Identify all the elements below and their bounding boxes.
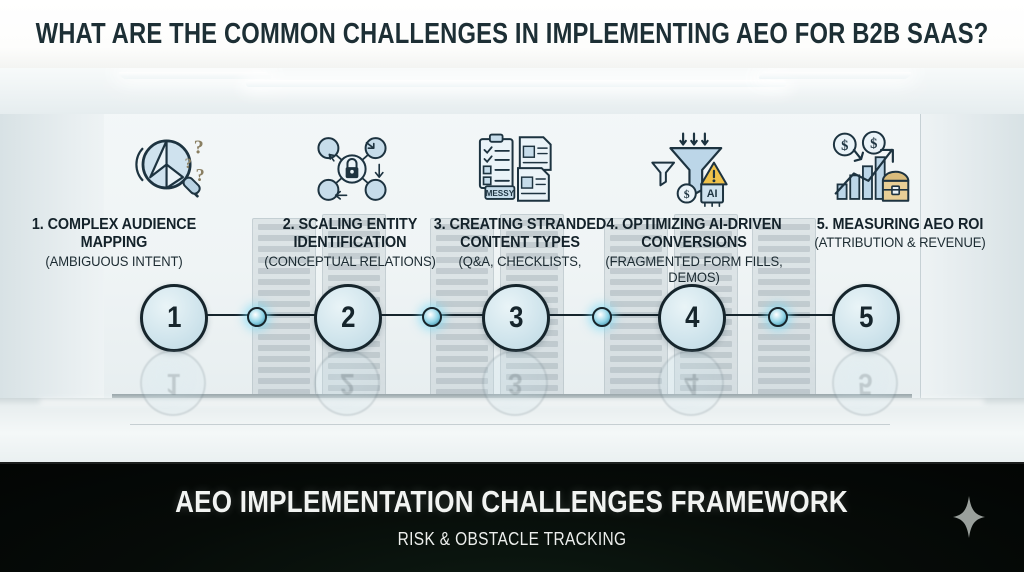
title-bar: What are the common challenges in implem… [0, 0, 1024, 68]
step-node-2[interactable]: 2 [314, 284, 382, 352]
step-number-reflection: 1 [166, 366, 180, 400]
sparkle-icon [952, 495, 986, 539]
step-number: 2 [341, 301, 355, 335]
infographic-stage: What are the common challenges in implem… [0, 0, 1024, 572]
step-node-5[interactable]: 5 [832, 284, 900, 352]
footer-title: AEO Implementation Challenges Framework [176, 484, 849, 520]
step-node-reflection: 1 [140, 350, 206, 416]
step-number: 3 [509, 301, 523, 335]
step-node-4[interactable]: 4 [658, 284, 726, 352]
timeline-dot [768, 307, 788, 327]
step-number: 4 [685, 301, 699, 335]
background-scene: ? ? ? [0, 68, 1024, 462]
step-number-reflection: 4 [684, 366, 698, 400]
step-node-reflection: 3 [482, 350, 548, 416]
step-node-3[interactable]: 3 [482, 284, 550, 352]
step-number: 5 [859, 301, 873, 335]
step-number-reflection: 5 [858, 366, 872, 400]
step-number-reflection: 3 [508, 366, 522, 400]
step-node-reflection: 5 [832, 350, 898, 416]
timeline-dot [247, 307, 267, 327]
timeline-dot [422, 307, 442, 327]
footer-subtitle: Risk & Obstacle Tracking [398, 529, 627, 550]
footer-banner: AEO Implementation Challenges Framework … [0, 462, 1024, 572]
step-node-reflection: 2 [314, 350, 380, 416]
step-node-reflection: 4 [658, 350, 724, 416]
step-number: 1 [167, 301, 181, 335]
timeline: 1 2 3 4 5 1 2 3 [0, 68, 1024, 462]
banner-top-edge [0, 462, 1024, 464]
step-number-reflection: 2 [340, 366, 354, 400]
timeline-dot [592, 307, 612, 327]
step-node-1[interactable]: 1 [140, 284, 208, 352]
page-title: What are the common challenges in implem… [36, 18, 989, 51]
